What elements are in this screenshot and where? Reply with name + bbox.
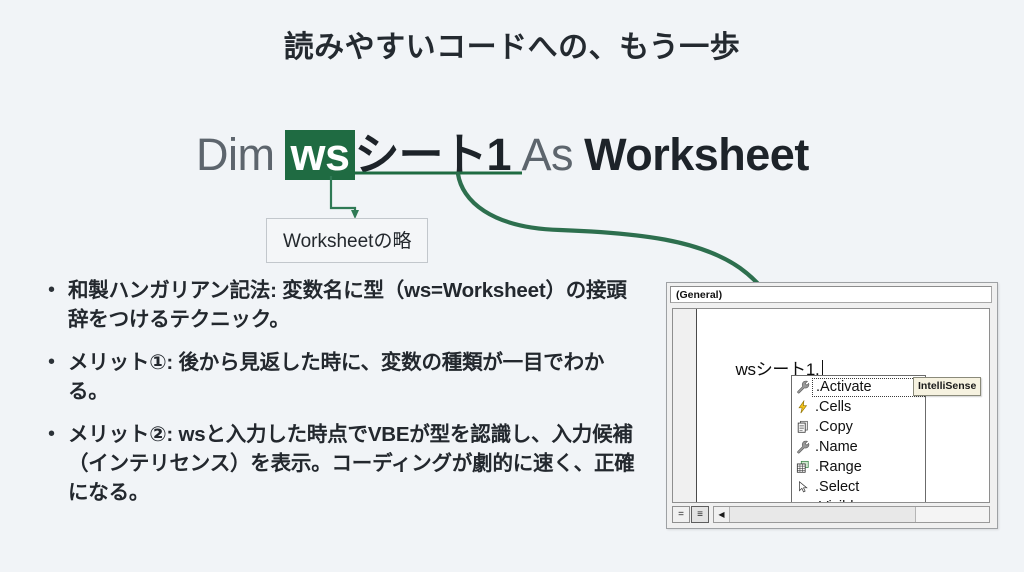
list-item-label: メリット①: 後から見返した時に、変数の種類が一目でわかる。	[68, 348, 644, 406]
intellisense-item-range[interactable]: .Range	[792, 457, 925, 477]
intellisense-item-label: .Range	[812, 459, 925, 476]
bullet-marker-icon: •	[44, 348, 68, 377]
list-item: • 和製ハンガリアン記法: 変数名に型（ws=Worksheet）の接頭辞をつけ…	[44, 276, 644, 334]
bullet-list: • 和製ハンガリアン記法: 変数名に型（ws=Worksheet）の接頭辞をつけ…	[44, 276, 644, 521]
grid-icon	[794, 460, 812, 474]
intellisense-item-activate[interactable]: .Activate	[792, 377, 925, 397]
procedure-selector-dropdown[interactable]: (General)	[670, 286, 992, 303]
intellisense-item-name[interactable]: .Name	[792, 437, 925, 457]
variable-prefix-highlight: ws	[285, 130, 354, 180]
lightning-icon	[794, 400, 812, 414]
intellisense-dropdown[interactable]: .Activate .Cells	[791, 375, 926, 503]
bullet-marker-icon: •	[44, 276, 68, 305]
keyword-as: As	[522, 129, 574, 181]
list-item: • メリット①: 後から見返した時に、変数の種類が一目でわかる。	[44, 348, 644, 406]
intellisense-item-visible[interactable]: .Visible	[792, 497, 925, 503]
intellisense-item-copy[interactable]: .Copy	[792, 417, 925, 437]
eye-icon	[794, 501, 812, 503]
abbreviation-callout: Worksheetの略	[266, 218, 428, 263]
intellisense-item-label: .Cells	[812, 399, 925, 416]
intellisense-item-label: .Copy	[812, 419, 925, 436]
callout-connector-arrow	[331, 176, 355, 212]
vbe-code-window: (General) wsシート1. .Activate	[666, 282, 998, 529]
list-item: • メリット②: wsと入力した時点でVBEが型を認識し、入力候補 （インテリセ…	[44, 420, 644, 507]
intellisense-item-label: .Visible	[812, 499, 925, 504]
vbe-code-editor[interactable]: wsシート1. .Activate .Cells	[672, 308, 990, 503]
variable-rest: シート1	[355, 118, 511, 183]
full-module-view-button[interactable]: ≡	[691, 506, 709, 523]
list-item-label: メリット②: wsと入力した時点でVBEが型を認識し、入力候補 （インテリセンス…	[68, 420, 644, 507]
wrench-icon	[794, 380, 812, 394]
horizontal-scrollbar[interactable]: ◀	[713, 506, 990, 523]
bullet-marker-icon: •	[44, 420, 68, 449]
intellisense-item-cells[interactable]: .Cells	[792, 397, 925, 417]
list-item-label: 和製ハンガリアン記法: 変数名に型（ws=Worksheet）の接頭辞をつけるテ…	[68, 276, 644, 334]
type-name: Worksheet	[584, 129, 809, 181]
document-icon	[794, 420, 812, 434]
code-headline: Dim wsシート1 As Worksheet	[196, 118, 809, 176]
intellisense-item-label: .Name	[812, 439, 925, 456]
vbe-margin-indicator-bar	[673, 309, 697, 502]
cursor-arrow-icon	[794, 480, 812, 494]
intellisense-item-label: .Activate	[812, 378, 925, 397]
procedure-view-button[interactable]: =	[672, 506, 690, 523]
wrench-icon	[794, 440, 812, 454]
vbe-bottom-bar: = ≡ ◀	[672, 506, 990, 523]
scroll-left-arrow-icon[interactable]: ◀	[714, 507, 730, 522]
intellisense-annotation-label: IntelliSense	[913, 377, 981, 396]
keyword-dim: Dim	[196, 129, 274, 181]
intellisense-item-select[interactable]: .Select	[792, 477, 925, 497]
page-title: 読みやすいコードへの、もう一歩	[0, 22, 1024, 66]
scrollbar-thumb[interactable]	[730, 507, 916, 522]
intellisense-item-label: .Select	[812, 479, 925, 496]
